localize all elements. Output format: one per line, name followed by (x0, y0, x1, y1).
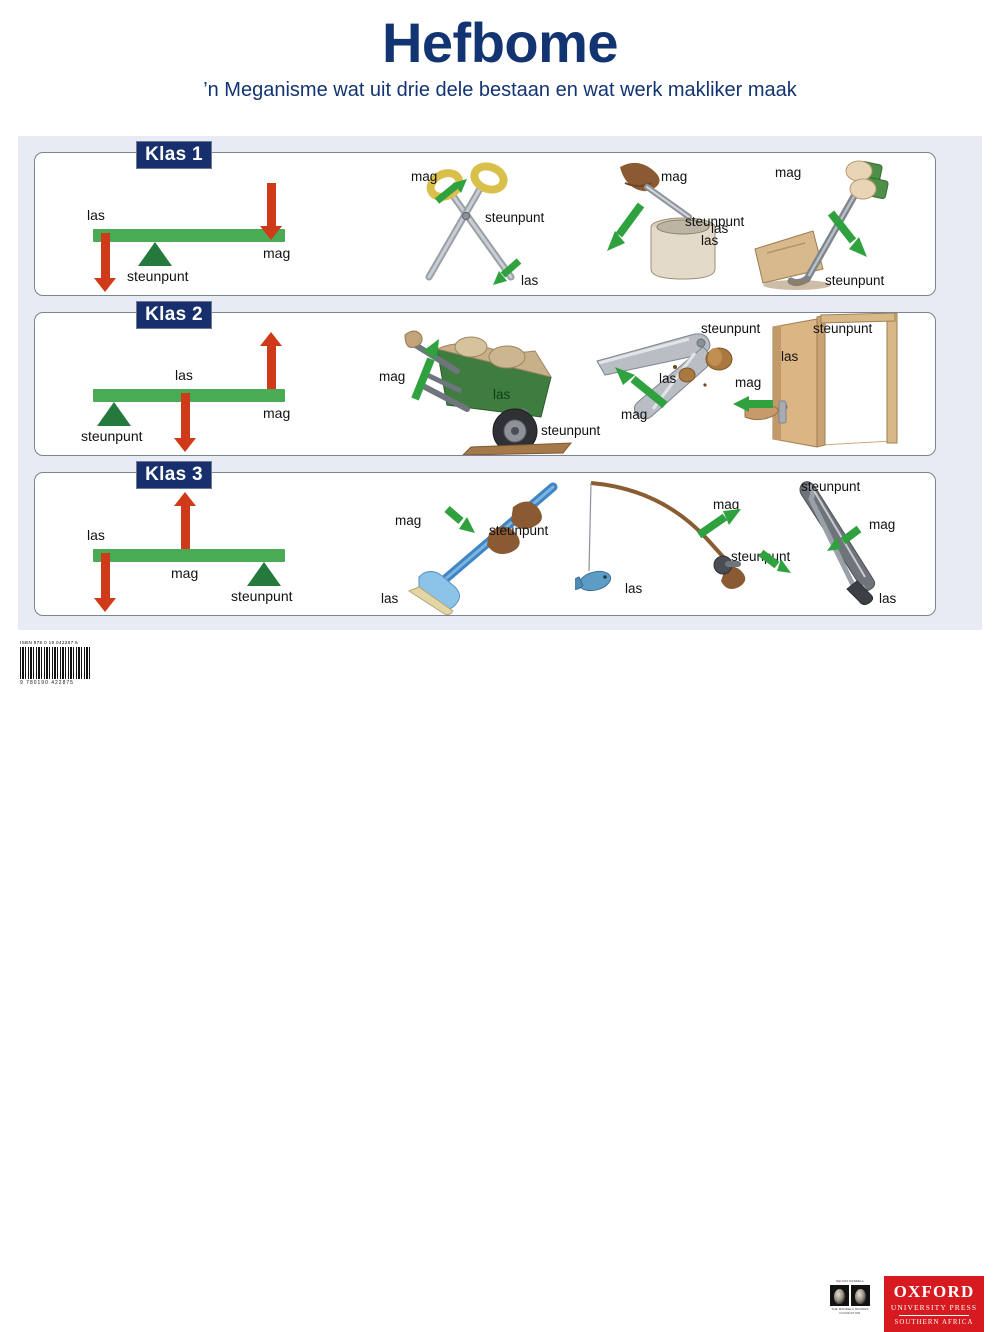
class-row-3: las mag steunpunt mag steunpunt las (34, 472, 936, 616)
arrow-head (94, 598, 116, 612)
effort-label: mag (411, 169, 437, 184)
effort-direction-arrow (405, 335, 445, 403)
effort-arrow-up (181, 505, 190, 549)
portrait-left (830, 1285, 849, 1306)
load-arrow-down (101, 233, 110, 279)
effort-direction-arrow (695, 507, 743, 539)
class-badge-1: Klas 1 (136, 141, 212, 169)
fishing-rod-icon (575, 473, 785, 615)
class-row-1: las steunpunt mag mag (34, 152, 936, 296)
content-panel: Klas 1 las steunpunt mag (18, 136, 982, 630)
effort-direction-arrow (603, 201, 647, 253)
fulcrum-label: steunpunt (127, 268, 189, 284)
effort-label: mag (661, 169, 687, 184)
illustration-broom-squeegee: mag steunpunt las (385, 473, 585, 615)
fulcrum-triangle (97, 402, 131, 426)
mandela-rhodes-logo: NELSON MANDELA THE MANDELA RHODES FOUNDA… (826, 1280, 874, 1326)
illustration-wheelbarrow: mag las steunpunt (375, 313, 585, 455)
load-label: las (781, 349, 798, 364)
effort-label: mag (775, 165, 801, 180)
effort-label: mag (263, 405, 290, 421)
load-label: las (711, 221, 728, 236)
fulcrum-label: steunpunt (813, 321, 872, 336)
arrow-head (174, 492, 196, 506)
lever-beam (93, 229, 285, 242)
load-label: las (381, 591, 398, 606)
load-label: las (493, 387, 510, 402)
arrow-head (260, 332, 282, 346)
effort-label: mag (395, 513, 421, 528)
load-label: las (175, 367, 193, 383)
load-label: las (625, 581, 642, 596)
effort-label: mag (869, 517, 895, 532)
oup-divider (899, 1315, 969, 1316)
effort-direction-arrow (823, 525, 863, 555)
mandela-rhodes-top-text: NELSON MANDELA (826, 1280, 874, 1283)
effort-direction-arrow (731, 393, 775, 415)
poster-footer: ISBN 978 0 19 042287 5 9 780190 422875 N… (0, 632, 1000, 706)
arrow-head (94, 278, 116, 292)
portrait-right (851, 1285, 870, 1306)
fulcrum-label: steunpunt (489, 523, 548, 538)
load-label: las (521, 273, 538, 288)
oup-region: SOUTHERN AFRICA (884, 1319, 984, 1326)
load-arrow-down (101, 553, 110, 599)
load-direction-arrow (489, 257, 523, 287)
illustration-door-hinge: steunpunt las mag (725, 313, 925, 455)
fulcrum-label: steunpunt (485, 210, 544, 225)
effort-label: mag (263, 245, 290, 261)
fulcrum-label: steunpunt (231, 588, 293, 604)
load-label: las (879, 591, 896, 606)
effort-arrow-down (267, 183, 276, 227)
effort-direction-arrow (611, 363, 669, 409)
lever-diagram-class-1: las steunpunt mag (75, 167, 375, 287)
illustration-crowbar-crate: mag las steunpunt (747, 153, 935, 295)
fulcrum-label: steunpunt (825, 273, 884, 288)
class-badge-2: Klas 2 (136, 301, 212, 329)
fulcrum-label: steunpunt (801, 479, 860, 494)
barcode-bars (20, 647, 90, 679)
page-subtitle: ’n Meganisme wat uit drie dele bestaan e… (0, 79, 1000, 102)
effort-label: mag (171, 565, 198, 581)
class-row-2: steunpunt las mag (34, 312, 936, 456)
illustration-scissors: mag steunpunt las (393, 153, 553, 295)
effort-label: mag (379, 369, 405, 384)
load-label: las (87, 527, 105, 543)
load-label: las (87, 207, 105, 223)
fulcrum-triangle (247, 562, 281, 586)
effort-label: mag (735, 375, 761, 390)
poster-header: Hefbome ’n Meganisme wat uit drie dele b… (0, 0, 1000, 102)
arrow-head (174, 438, 196, 452)
mandela-rhodes-caption: THE MANDELA RHODES FOUNDATION (826, 1308, 874, 1315)
lever-diagram-class-3: las mag steunpunt (75, 487, 375, 607)
effort-direction-arrow (443, 505, 479, 535)
effort-direction-arrow (435, 177, 471, 205)
oup-subline: UNIVERSITY PRESS (884, 1303, 984, 1312)
fulcrum-triangle (138, 242, 172, 266)
oxford-university-press-logo: OXFORD UNIVERSITY PRESS SOUTHERN AFRICA (884, 1276, 984, 1332)
barcode-number: 9 780190 422875 (20, 680, 90, 686)
isbn-text: ISBN 978 0 19 042287 5 (20, 640, 90, 645)
class-badge-3: Klas 3 (136, 461, 212, 489)
effort-label: mag (621, 407, 647, 422)
effort-direction-arrow (825, 209, 873, 261)
broom-squeegee-icon (385, 473, 585, 615)
mandela-rhodes-portraits (826, 1285, 874, 1306)
lever-beam (93, 549, 285, 562)
illustration-fishing-rod: mag steunpunt las (575, 473, 785, 615)
face-shape (855, 1289, 866, 1304)
poster: Hefbome ’n Meganisme wat uit drie dele b… (0, 0, 1000, 706)
page-title: Hefbome (0, 14, 1000, 73)
load-arrow-down (181, 393, 190, 439)
effort-arrow-up (267, 345, 276, 389)
face-shape (834, 1289, 845, 1304)
oup-wordmark: OXFORD (884, 1282, 984, 1302)
lever-diagram-class-2: steunpunt las mag (75, 327, 375, 447)
arrow-head (260, 226, 282, 240)
isbn-barcode: ISBN 978 0 19 042287 5 9 780190 422875 (20, 640, 90, 686)
illustration-tweezers: steunpunt mag las (765, 473, 935, 615)
fulcrum-label: steunpunt (81, 428, 143, 444)
